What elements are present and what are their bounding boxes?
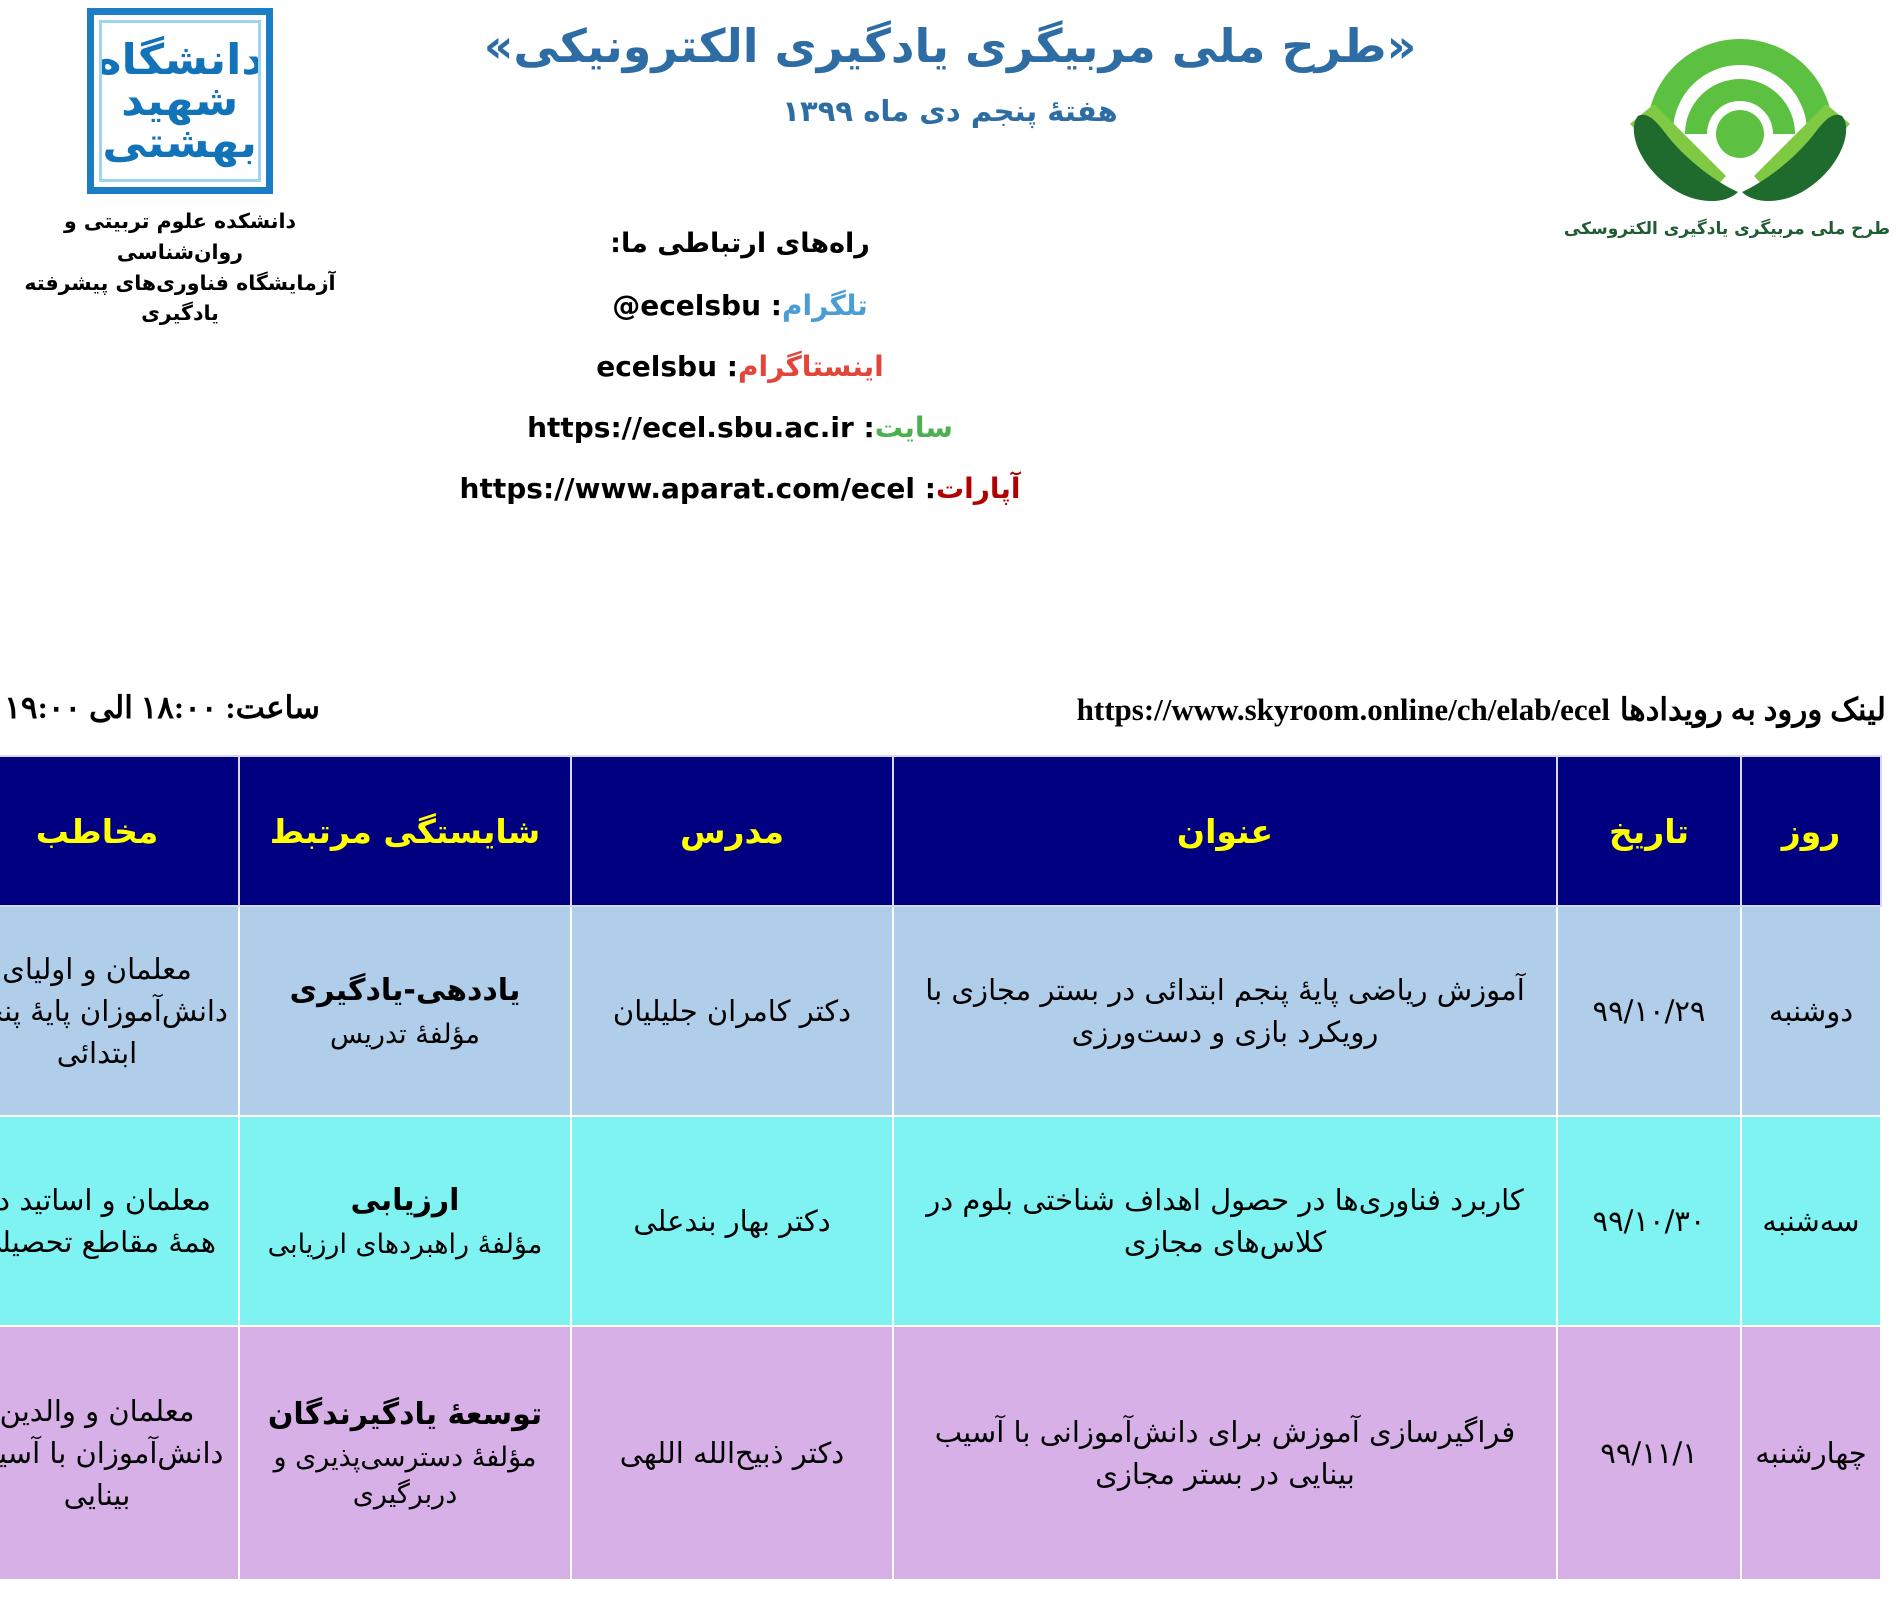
cell-audience: معلمان و والدین دانش‌آموزان با آسیب بینا… [0, 1326, 239, 1580]
table-header-row: روز تاریخ عنوان مدرس شایستگی مرتبط مخاطب [0, 756, 1881, 906]
column-header-teacher: مدرس [571, 756, 893, 906]
contact-label-instagram: اینستاگرام [738, 350, 884, 383]
cell-teacher: دکتر کامران جلیلیان [571, 906, 893, 1116]
competency-sub: مؤلفهٔ دسترسی‌پذیری و دربرگیری [250, 1440, 560, 1513]
ecel-logo-block: طرح ملی مربیگری یادگیری الکتروسکی [1590, 12, 1890, 239]
column-header-audience: مخاطب [0, 756, 239, 906]
cell-date: ۹۹/۱۱/۱ [1557, 1326, 1741, 1580]
table-row: دوشنبه ۹۹/۱۰/۲۹ آموزش ریاضی پایهٔ پنجم ا… [0, 906, 1881, 1116]
cell-audience: معلمان و اولیای دانش‌آموزان پایهٔ پنجم ا… [0, 906, 239, 1116]
cell-title: کاربرد فناوری‌ها در حصول اهداف شناختی بل… [893, 1116, 1557, 1326]
cell-competency: توسعهٔ یادگیرندگان مؤلفهٔ دسترسی‌پذیری و… [239, 1326, 571, 1580]
sbu-logo-line-1: دانشگاه [99, 39, 261, 80]
title-block: «طرح ملی مربیگری یادگیری الکترونیکی» هفت… [360, 18, 1540, 128]
ecel-wifi-hands-logo [1620, 12, 1860, 217]
session-time-text: ساعت: ۱۸:۰۰ الی ۱۹:۰۰ [4, 690, 320, 726]
cell-competency: ارزیابی مؤلفهٔ راهبردهای ارزیابی [239, 1116, 571, 1326]
sbu-logo-line-2: شهید [99, 80, 261, 121]
ecel-logo-svg [1620, 12, 1860, 217]
contact-colon-telegram: : [761, 289, 782, 322]
contact-value-website[interactable]: https://ecel.sbu.ac.ir [527, 411, 854, 444]
competency-main: توسعهٔ یادگیرندگان [250, 1393, 560, 1437]
link-and-time-bar: لینک ورود به رویدادها https://www.skyroo… [0, 690, 1900, 750]
cell-day: دوشنبه [1741, 906, 1881, 1116]
contact-label-website: سایت [875, 411, 953, 444]
events-link-url[interactable]: https://www.skyroom.online/ch/elab/ecel [1077, 692, 1610, 728]
cell-teacher: دکتر ذبیح‌الله اللهی [571, 1326, 893, 1580]
cell-teacher: دکتر بهار بندعلی [571, 1116, 893, 1326]
cell-title: آموزش ریاضی پایهٔ پنجم ابتدائی در بستر م… [893, 906, 1557, 1116]
page-title: «طرح ملی مربیگری یادگیری الکترونیکی» [360, 18, 1540, 76]
contact-item-instagram: اینستاگرام: ecelsbu [0, 350, 1480, 383]
table-row: سه‌شنبه ۹۹/۱۰/۳۰ کاربرد فناوری‌ها در حصو… [0, 1116, 1881, 1326]
contact-value-aparat[interactable]: https://www.aparat.com/ecel [460, 472, 915, 505]
schedule-table: روز تاریخ عنوان مدرس شایستگی مرتبط مخاطب… [0, 755, 1882, 1581]
cell-day: چهارشنبه [1741, 1326, 1881, 1580]
competency-main: ارزیابی [250, 1179, 560, 1223]
events-link-label: لینک ورود به رویدادها [1620, 692, 1886, 728]
column-header-title: عنوان [893, 756, 1557, 906]
schedule-table-wrap: روز تاریخ عنوان مدرس شایستگی مرتبط مخاطب… [18, 755, 1882, 1581]
competency-sub: مؤلفهٔ تدریس [250, 1017, 560, 1053]
contact-colon-website: : [854, 411, 875, 444]
cell-date: ۹۹/۱۰/۲۹ [1557, 906, 1741, 1116]
contact-heading: راه‌های ارتباطی ما: [0, 228, 1480, 259]
cell-title: فراگیرسازی آموزش برای دانش‌آموزانی با آس… [893, 1326, 1557, 1580]
competency-main: یاددهی-یادگیری [250, 969, 560, 1013]
ecel-logo-caption: طرح ملی مربیگری یادگیری الکتروسکی [1590, 219, 1890, 239]
sbu-university-logo: دانشگاه شهید بهشتی [87, 8, 273, 194]
contact-item-telegram: تلگرام: @ecelsbu [0, 289, 1480, 322]
contact-item-website: سایت: https://ecel.sbu.ac.ir [0, 411, 1480, 444]
schedule-table-head: روز تاریخ عنوان مدرس شایستگی مرتبط مخاطب [0, 756, 1881, 906]
sbu-logo-line-3: بهشتی [99, 122, 261, 163]
contact-value-telegram[interactable]: @ecelsbu [612, 289, 761, 322]
column-header-day: روز [1741, 756, 1881, 906]
cell-date: ۹۹/۱۰/۳۰ [1557, 1116, 1741, 1326]
cell-day: سه‌شنبه [1741, 1116, 1881, 1326]
sbu-logo-inner-frame: دانشگاه شهید بهشتی [99, 20, 261, 182]
column-header-competency: شایستگی مرتبط [239, 756, 571, 906]
contact-value-instagram[interactable]: ecelsbu [596, 350, 717, 383]
cell-competency: یاددهی-یادگیری مؤلفهٔ تدریس [239, 906, 571, 1116]
competency-sub: مؤلفهٔ راهبردهای ارزیابی [250, 1227, 560, 1263]
contact-label-aparat: آپارات [936, 472, 1020, 505]
contact-colon-instagram: : [717, 350, 738, 383]
contact-label-telegram: تلگرام [782, 289, 868, 322]
sbu-logo-calligraphy: دانشگاه شهید بهشتی [99, 39, 261, 162]
schedule-table-body: دوشنبه ۹۹/۱۰/۲۹ آموزش ریاضی پایهٔ پنجم ا… [0, 906, 1881, 1580]
contact-colon-aparat: : [915, 472, 936, 505]
table-row: چهارشنبه ۹۹/۱۱/۱ فراگیرسازی آموزش برای د… [0, 1326, 1881, 1580]
cell-audience: معلمان و اساتید در همهٔ مقاطع تحصیلی [0, 1116, 239, 1326]
column-header-date: تاریخ [1557, 756, 1741, 906]
contact-block: راه‌های ارتباطی ما: تلگرام: @ecelsbu این… [0, 228, 1480, 533]
page-subtitle: هفتهٔ پنجم دی ماه ۱۳۹۹ [360, 94, 1540, 128]
contact-item-aparat: آپارات: https://www.aparat.com/ecel [0, 472, 1480, 505]
